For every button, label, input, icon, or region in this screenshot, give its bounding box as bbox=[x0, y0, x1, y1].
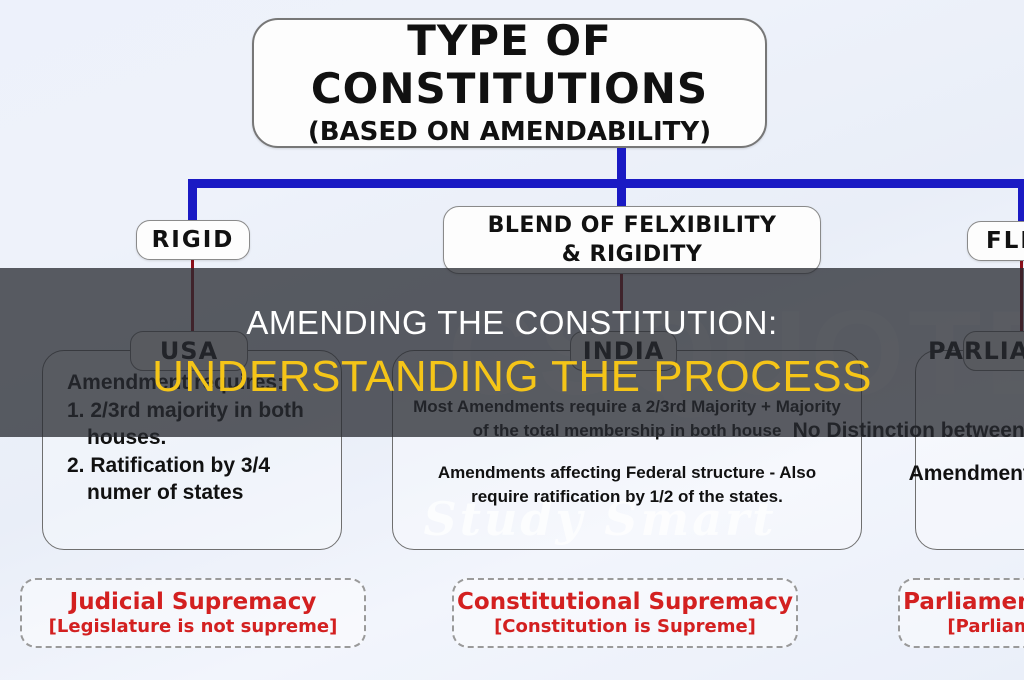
supremacy-usa-subtitle: [Legislature is not supreme] bbox=[49, 616, 338, 638]
category-rigid[interactable]: RIGID bbox=[136, 220, 250, 260]
diagram-title-line1: TYPE OF CONSTITUTIONS bbox=[254, 17, 765, 113]
connector-horizontal-bus bbox=[188, 179, 1024, 188]
category-rigid-label: RIGID bbox=[152, 227, 235, 253]
connector-drop-rigid bbox=[188, 179, 197, 224]
caption-line-1: AMENDING THE CONSTITUTION: bbox=[246, 304, 777, 342]
supremacy-parliament-subtitle: [Parliament is Supreme] bbox=[947, 616, 1024, 638]
supremacy-usa-title: Judicial Supremacy bbox=[70, 589, 317, 616]
diagram-canvas: CSQUOTES Study Smart TYPE OF CONSTITUTIO… bbox=[0, 0, 1024, 680]
panel-parliament-paragraph-2: Amendment by Simple Majority bbox=[909, 460, 1024, 487]
supremacy-india-title: Constitutional Supremacy bbox=[457, 589, 793, 616]
connector-drop-blend bbox=[617, 179, 626, 209]
supremacy-box-usa: Judicial Supremacy [Legislature is not s… bbox=[20, 578, 366, 648]
supremacy-india-subtitle: [Constitution is Supreme] bbox=[494, 616, 756, 638]
category-flexible-label: FLEXIBLE bbox=[986, 228, 1024, 254]
connector-drop-flexible bbox=[1018, 179, 1024, 224]
category-blend-label-line2: & RIGIDITY bbox=[562, 240, 703, 269]
category-flexible[interactable]: FLEXIBLE bbox=[967, 221, 1024, 261]
category-blend-label-line1: BLEND OF FELXIBILITY bbox=[488, 211, 777, 240]
category-blend[interactable]: BLEND OF FELXIBILITY & RIGIDITY bbox=[443, 206, 821, 274]
supremacy-parliament-title: Parliamentary Supremacy bbox=[903, 589, 1024, 616]
caption-line-2: UNDERSTANDING THE PROCESS bbox=[152, 352, 872, 402]
supremacy-box-india: Constitutional Supremacy [Constitution i… bbox=[452, 578, 798, 648]
diagram-title-line2: (BASED ON AMENDABILITY) bbox=[308, 115, 711, 149]
connector-title-stem bbox=[617, 148, 626, 180]
panel-india-paragraph-2: Amendments affecting Federal structure -… bbox=[403, 461, 851, 509]
caption-overlay-band: AMENDING THE CONSTITUTION: UNDERSTANDING… bbox=[0, 268, 1024, 437]
supremacy-box-parliament: Parliamentary Supremacy [Parliament is S… bbox=[898, 578, 1024, 648]
diagram-title-box: TYPE OF CONSTITUTIONS (BASED ON AMENDABI… bbox=[252, 18, 767, 148]
list-item: 2. Ratification by 3/4 numer of states bbox=[67, 452, 331, 506]
